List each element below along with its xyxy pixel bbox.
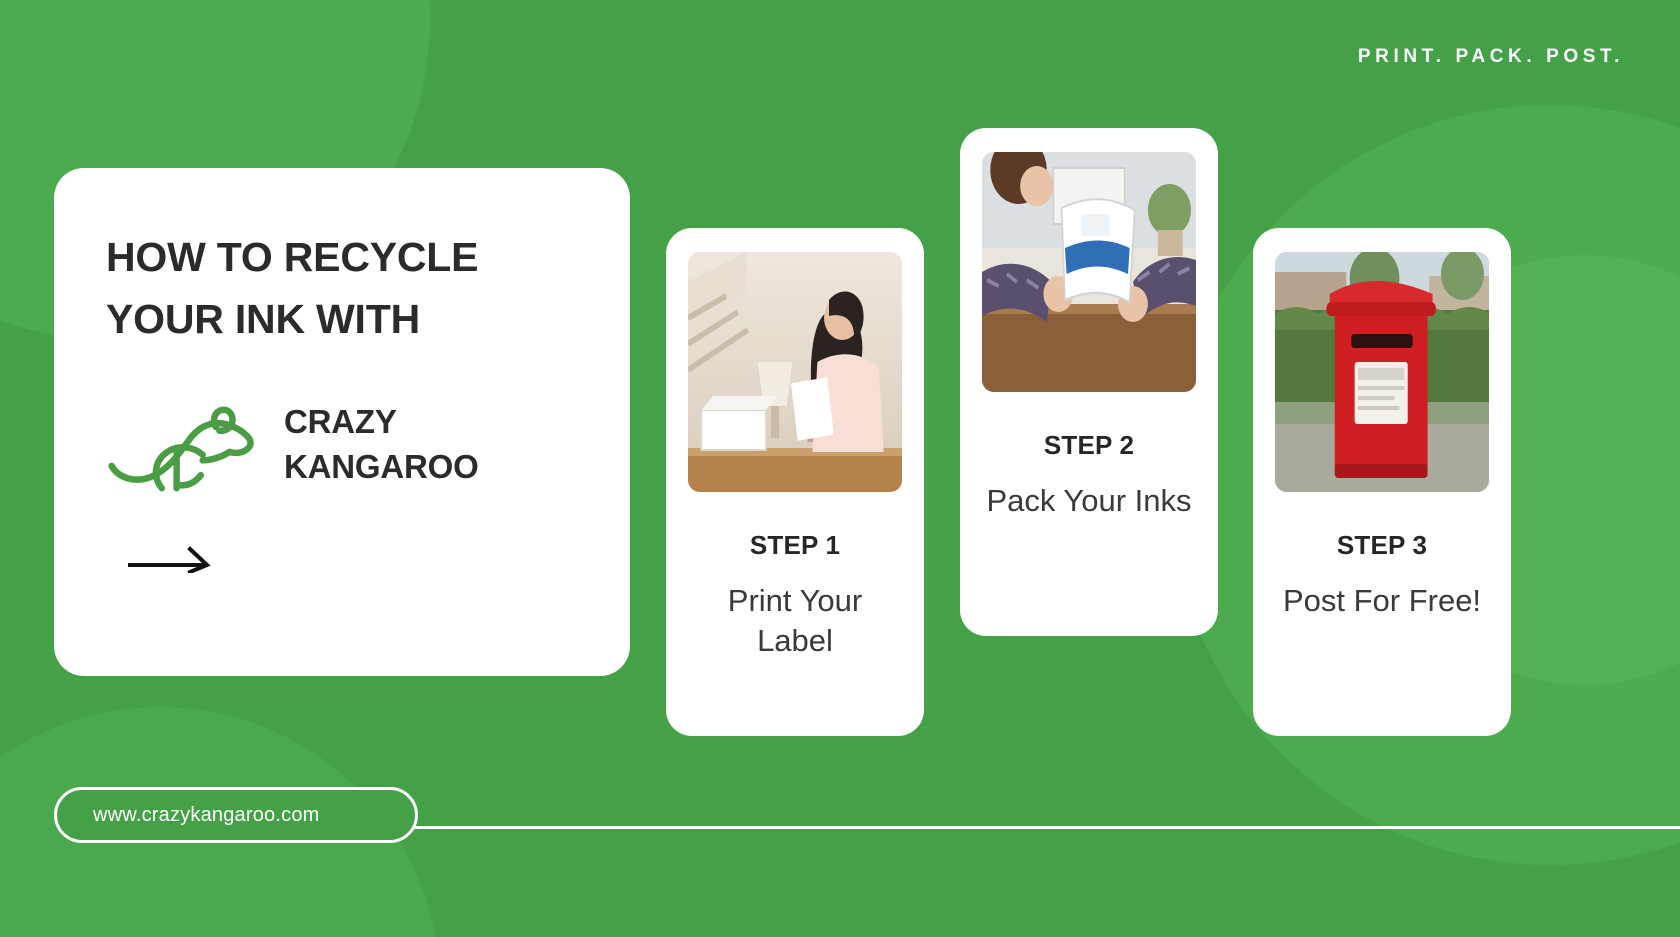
brand-name-line-2: KANGAROO xyxy=(284,445,479,490)
step-card-2[interactable]: STEP 2 Pack Your Inks xyxy=(960,128,1218,636)
arrow-right-icon xyxy=(128,545,580,578)
website-url-pill[interactable]: www.crazykangaroo.com xyxy=(54,787,418,843)
step-1-description: Print Your Label xyxy=(688,581,902,660)
step-2-description: Pack Your Inks xyxy=(986,481,1191,521)
step-1-label: STEP 1 xyxy=(750,530,840,561)
website-url-text: www.crazykangaroo.com xyxy=(93,804,320,827)
step-3-photo xyxy=(1275,252,1489,492)
hero-card: HOW TO RECYCLE YOUR INK WITH xyxy=(54,168,630,676)
kangaroo-logo-icon xyxy=(106,399,264,491)
page-title-line-1: HOW TO RECYCLE xyxy=(106,226,580,288)
brand-name-line-1: CRAZY xyxy=(284,400,479,445)
step-card-1[interactable]: STEP 1 Print Your Label xyxy=(666,228,924,736)
footer-divider xyxy=(230,826,1680,829)
page-title: HOW TO RECYCLE YOUR INK WITH xyxy=(106,226,580,351)
page-title-line-2: YOUR INK WITH xyxy=(106,288,580,350)
step-3-description: Post For Free! xyxy=(1283,581,1481,621)
tagline: PRINT. PACK. POST. xyxy=(1358,46,1624,68)
brand-name: CRAZY KANGAROO xyxy=(284,400,479,489)
step-2-photo xyxy=(982,152,1196,392)
step-card-3[interactable]: STEP 3 Post For Free! xyxy=(1253,228,1511,736)
step-2-label: STEP 2 xyxy=(1044,430,1134,461)
step-1-photo xyxy=(688,252,902,492)
brand-lockup: CRAZY KANGAROO xyxy=(106,399,580,491)
step-3-label: STEP 3 xyxy=(1337,530,1427,561)
